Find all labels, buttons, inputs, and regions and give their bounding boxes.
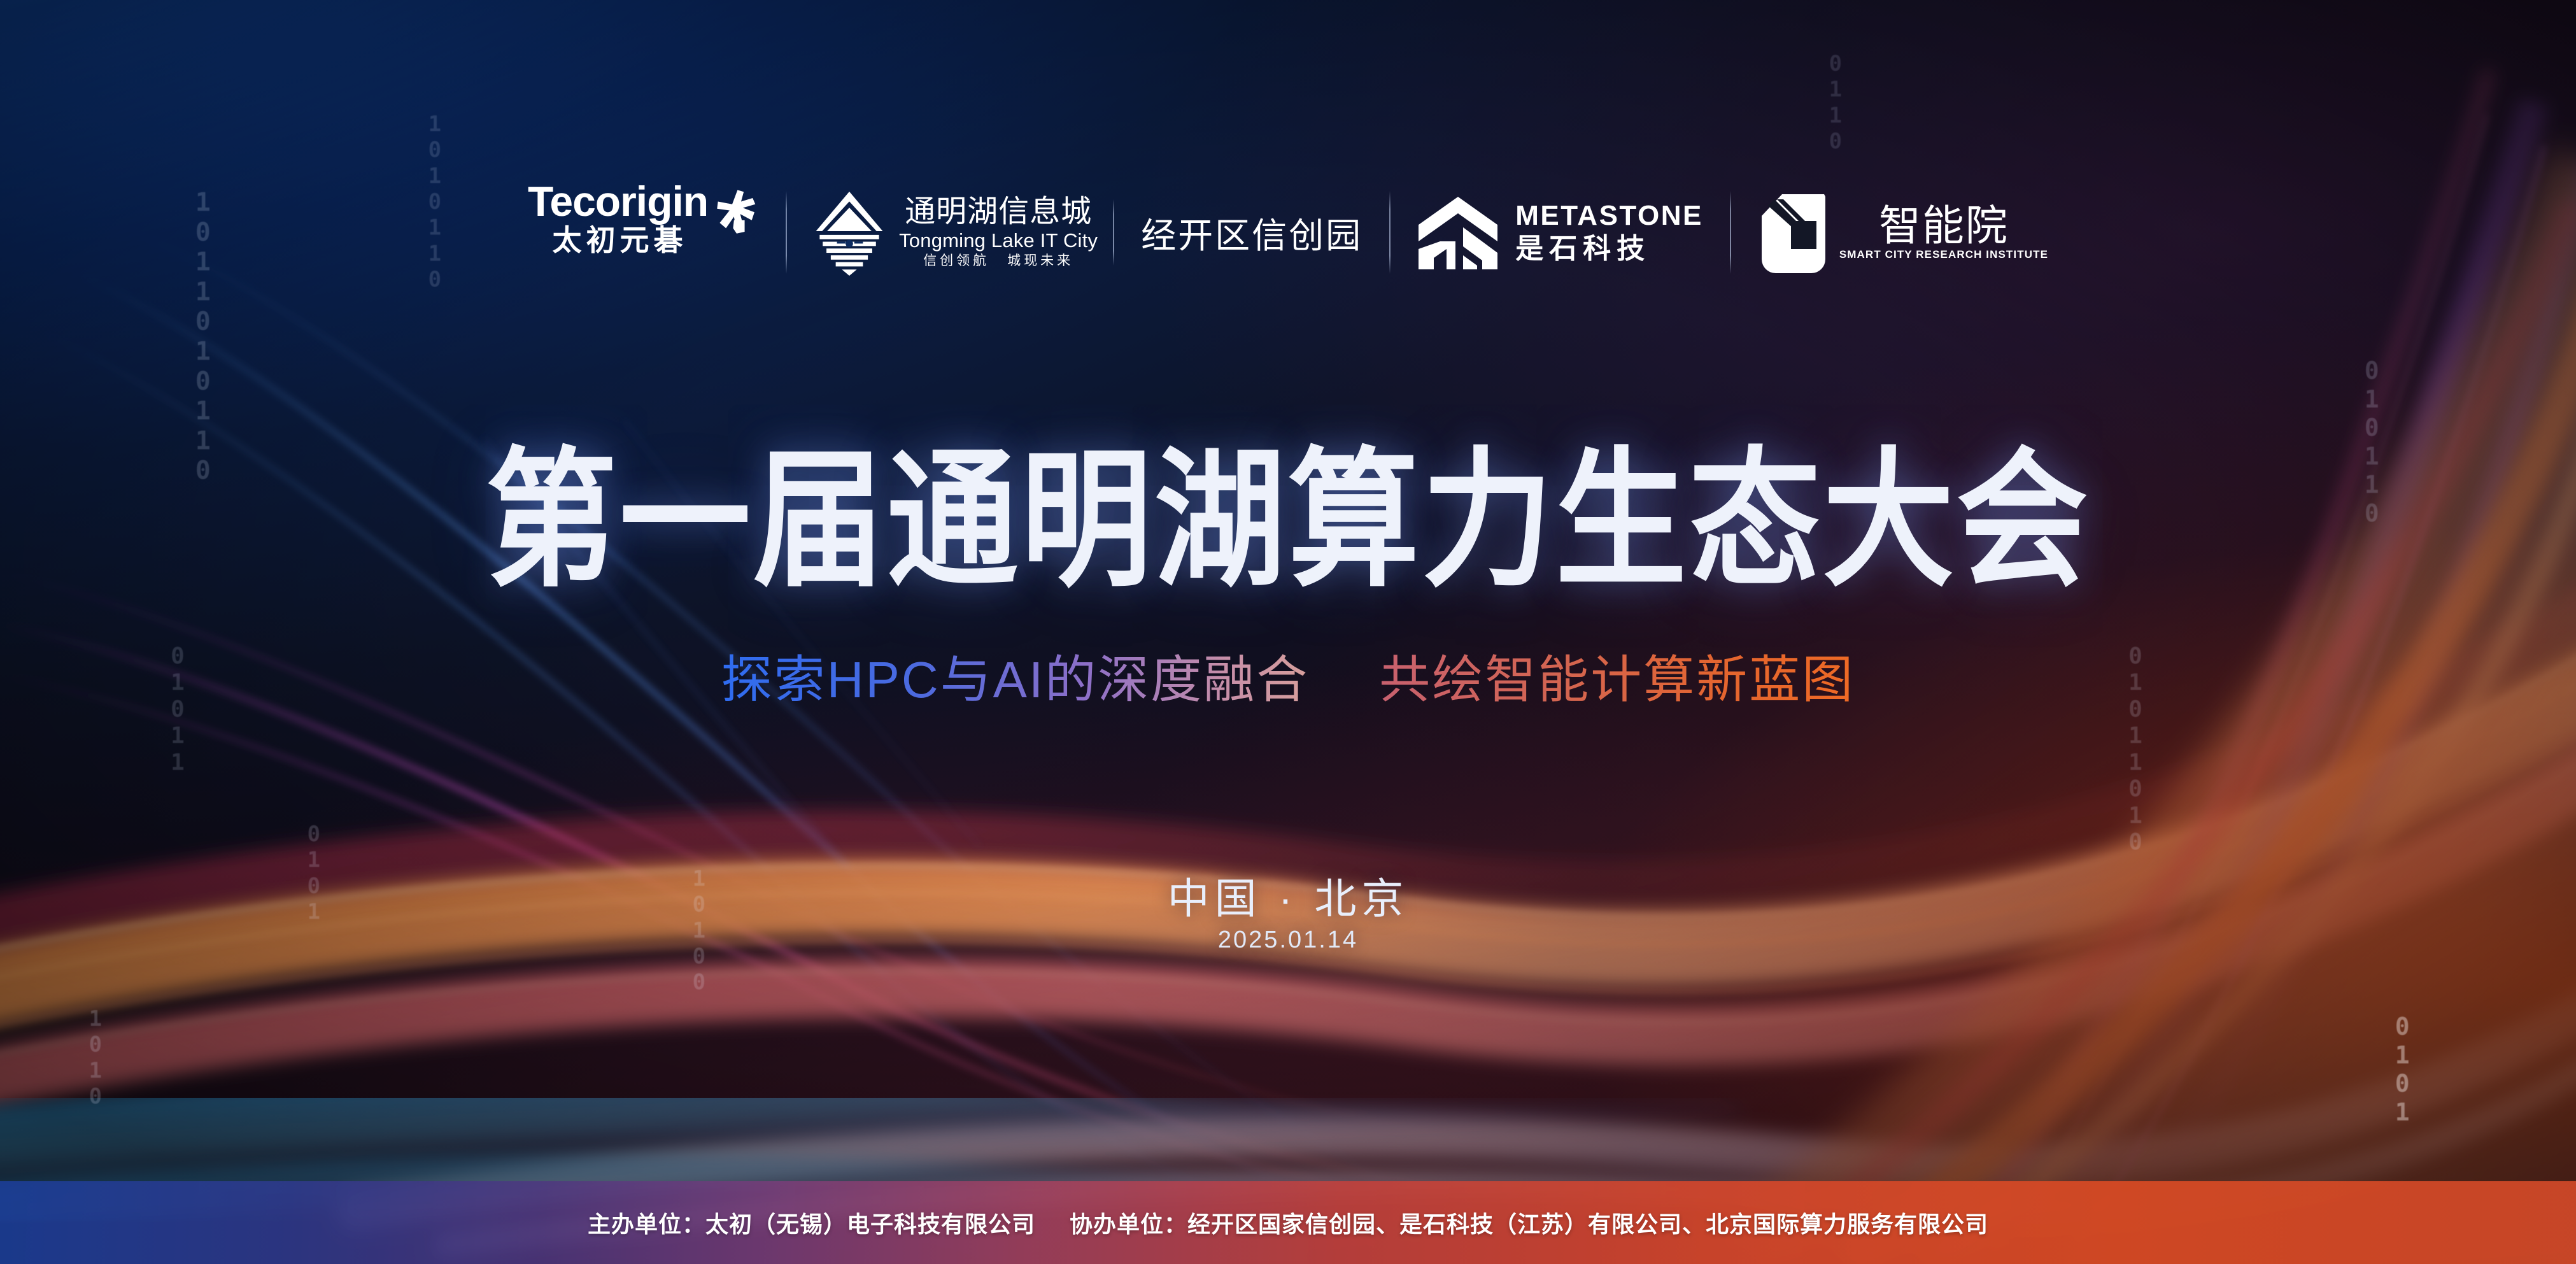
subtitle-left: 探索HPC与AI的深度融合 <box>721 651 1310 708</box>
footer-host-value: 太初（无锡）电子科技有限公司 <box>705 1211 1035 1237</box>
logo-tecorigin[interactable]: Tecorigin 太初元碁 <box>501 181 786 283</box>
metastone-name-en: METASTONE <box>1515 202 1703 230</box>
tongming-name-cn: 通明湖信息城 <box>905 196 1092 229</box>
tongming-name-en: Tongming Lake IT City <box>899 231 1098 252</box>
footer-coorg-value: 经开区国家信创园、是石科技（江苏）有限公司、北京国际算力服务有限公司 <box>1187 1211 1988 1237</box>
event-date: 2025.01.14 <box>0 927 2576 954</box>
footer-bar: 主办单位：太初（无锡）电子科技有限公司 协办单位：经开区国家信创园、是石科技（江… <box>0 1181 2576 1264</box>
binary-column-7: 0110 <box>1821 51 1850 155</box>
tongming-lake-pyramid-icon <box>814 189 885 276</box>
logo-smart-city-research-institute[interactable]: 智能院 SMART CITY RESEARCH INSTITUTE <box>1731 181 2075 283</box>
scri-name-cn: 智能院 <box>1879 204 2009 246</box>
footer-organizers: 主办单位：太初（无锡）电子科技有限公司 协办单位：经开区国家信创园、是石科技（江… <box>588 1206 1988 1239</box>
footer-coorganizer: 协办单位：经开区国家信创园、是石科技（江苏）有限公司、北京国际算力服务有限公司 <box>1070 1206 1988 1239</box>
tongming-slogan-b: 城现未来 <box>1007 253 1073 268</box>
conference-banner: 1011010110 1010110 01011 1010 0101 10100… <box>0 0 2576 1264</box>
scri-name-en: SMART CITY RESEARCH INSTITUTE <box>1839 249 2048 260</box>
partner-logo-bar: Tecorigin 太初元碁 <box>0 167 2576 297</box>
logo-tongming-lake-it-city[interactable]: 通明湖信息城 Tongming Lake IT City 信创领航城现未来 <box>787 181 1124 283</box>
tecorigin-name-cn: 太初元碁 <box>553 225 688 255</box>
footer-coorg-label: 协办单位： <box>1070 1211 1187 1237</box>
tongming-slogan-a: 信创领航 <box>923 253 989 268</box>
footer-host: 主办单位：太初（无锡）电子科技有限公司 <box>588 1206 1035 1239</box>
subtitle-right: 共绘智能计算新蓝图 <box>1379 651 1855 708</box>
binary-column-10: 0101 <box>2386 1012 2418 1126</box>
tecorigin-mark-icon <box>714 189 759 236</box>
logo-metastone[interactable]: METASTONE 是石科技 <box>1391 181 1730 283</box>
jingkaiqu-name-cn: 经开区信创园 <box>1141 207 1362 258</box>
event-title: 第一届通明湖算力生态大会 <box>0 446 2576 595</box>
logo-jingkaiqu-xinchuang-park[interactable]: 经开区信创园 <box>1114 181 1389 283</box>
tecorigin-name-en: Tecorigin <box>528 181 708 222</box>
tongming-slogan: 信创领航城现未来 <box>914 253 1082 268</box>
event-location: 中国 · 北京 <box>0 865 2576 926</box>
event-subtitle: 探索HPC与AI的深度融合共绘智能计算新蓝图 <box>0 651 2576 710</box>
metastone-name-cn: 是石科技 <box>1515 235 1650 263</box>
footer-host-label: 主办单位： <box>588 1211 705 1237</box>
smart-city-book-icon <box>1758 190 1825 274</box>
metastone-building-icon <box>1417 194 1499 271</box>
binary-column-4: 1010 <box>81 1006 110 1110</box>
